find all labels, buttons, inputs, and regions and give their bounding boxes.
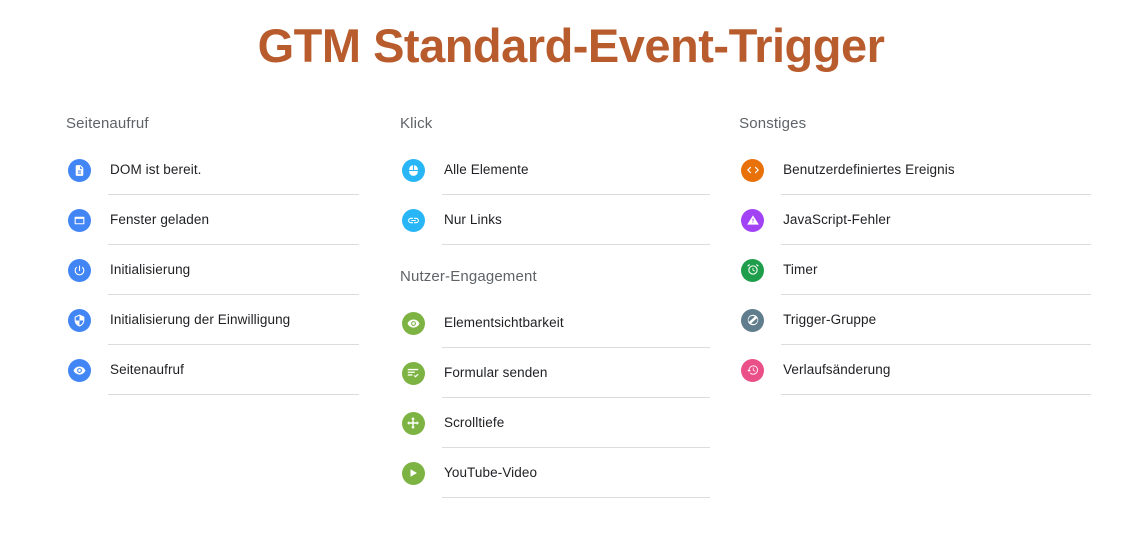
history-icon	[741, 359, 764, 382]
trigger-item[interactable]: Elementsichtbarkeit	[400, 298, 710, 348]
trigger-item-label: Elementsichtbarkeit	[444, 314, 564, 332]
trigger-item-label: Verlaufsänderung	[783, 361, 890, 379]
warning-triangle-icon	[741, 209, 764, 232]
trigger-item-label: Initialisierung der Einwilligung	[110, 311, 290, 329]
play-icon	[402, 462, 425, 485]
trigger-item-label: Nur Links	[444, 211, 502, 229]
trigger-item-label: Formular senden	[444, 364, 548, 382]
trigger-item-label: Benutzerdefiniertes Ereignis	[783, 161, 955, 179]
section-header: Nutzer-Engagement	[400, 267, 710, 287]
trigger-item[interactable]: Alle Elemente	[400, 145, 710, 195]
trigger-item-label: Scrolltiefe	[444, 414, 504, 432]
trigger-item[interactable]: Initialisierung	[66, 245, 359, 295]
power-icon	[68, 259, 91, 282]
column-1: SeitenaufrufDOM ist bereit.Fenster gelad…	[66, 114, 400, 395]
section-header: Klick	[400, 114, 710, 134]
eye-icon	[68, 359, 91, 382]
trigger-item[interactable]: Nur Links	[400, 195, 710, 245]
trigger-list: DOM ist bereit.Fenster geladenInitialisi…	[66, 145, 359, 395]
trigger-item-label: JavaScript-Fehler	[783, 211, 891, 229]
code-icon	[741, 159, 764, 182]
trigger-item[interactable]: Formular senden	[400, 348, 710, 398]
trigger-list: ElementsichtbarkeitFormular sendenScroll…	[400, 298, 710, 498]
trigger-columns: SeitenaufrufDOM ist bereit.Fenster gelad…	[0, 114, 1142, 498]
trigger-item-label: YouTube-Video	[444, 464, 537, 482]
section-nutzer-engagement: Nutzer-EngagementElementsichtbarkeitForm…	[400, 267, 710, 498]
trigger-item[interactable]: Initialisierung der Einwilligung	[66, 295, 359, 345]
trigger-list: Benutzerdefiniertes EreignisJavaScript-F…	[739, 145, 1091, 395]
link-icon	[402, 209, 425, 232]
trigger-item-label: Seitenaufruf	[110, 361, 184, 379]
column-2: KlickAlle ElementeNur LinksNutzer-Engage…	[400, 114, 739, 498]
eye-icon	[402, 312, 425, 335]
trigger-item-label: Fenster geladen	[110, 211, 209, 229]
trigger-item[interactable]: Verlaufsänderung	[739, 345, 1091, 395]
form-submit-icon	[402, 362, 425, 385]
section-klick: KlickAlle ElementeNur Links	[400, 114, 710, 245]
section-header: Sonstiges	[739, 114, 1091, 134]
trigger-item-label: Timer	[783, 261, 818, 279]
trigger-item[interactable]: YouTube-Video	[400, 448, 710, 498]
trigger-list: Alle ElementeNur Links	[400, 145, 710, 245]
trigger-item[interactable]: Seitenaufruf	[66, 345, 359, 395]
trigger-item[interactable]: Timer	[739, 245, 1091, 295]
trigger-group-icon	[741, 309, 764, 332]
trigger-item[interactable]: Trigger-Gruppe	[739, 295, 1091, 345]
move-arrows-icon	[402, 412, 425, 435]
shield-icon	[68, 309, 91, 332]
trigger-item[interactable]: DOM ist bereit.	[66, 145, 359, 195]
trigger-item[interactable]: Benutzerdefiniertes Ereignis	[739, 145, 1091, 195]
document-icon	[68, 159, 91, 182]
trigger-item-label: Alle Elemente	[444, 161, 529, 179]
mouse-icon	[402, 159, 425, 182]
section-sonstiges: SonstigesBenutzerdefiniertes EreignisJav…	[739, 114, 1091, 395]
trigger-item[interactable]: Scrolltiefe	[400, 398, 710, 448]
alarm-clock-icon	[741, 259, 764, 282]
section-header: Seitenaufruf	[66, 114, 359, 134]
trigger-item-label: Initialisierung	[110, 261, 190, 279]
section-seitenaufruf: SeitenaufrufDOM ist bereit.Fenster gelad…	[66, 114, 359, 395]
page-title: GTM Standard-Event-Trigger	[0, 0, 1142, 73]
trigger-item[interactable]: JavaScript-Fehler	[739, 195, 1091, 245]
column-3: SonstigesBenutzerdefiniertes EreignisJav…	[739, 114, 1091, 395]
trigger-item[interactable]: Fenster geladen	[66, 195, 359, 245]
trigger-item-label: DOM ist bereit.	[110, 161, 202, 179]
window-icon	[68, 209, 91, 232]
trigger-item-label: Trigger-Gruppe	[783, 311, 876, 329]
